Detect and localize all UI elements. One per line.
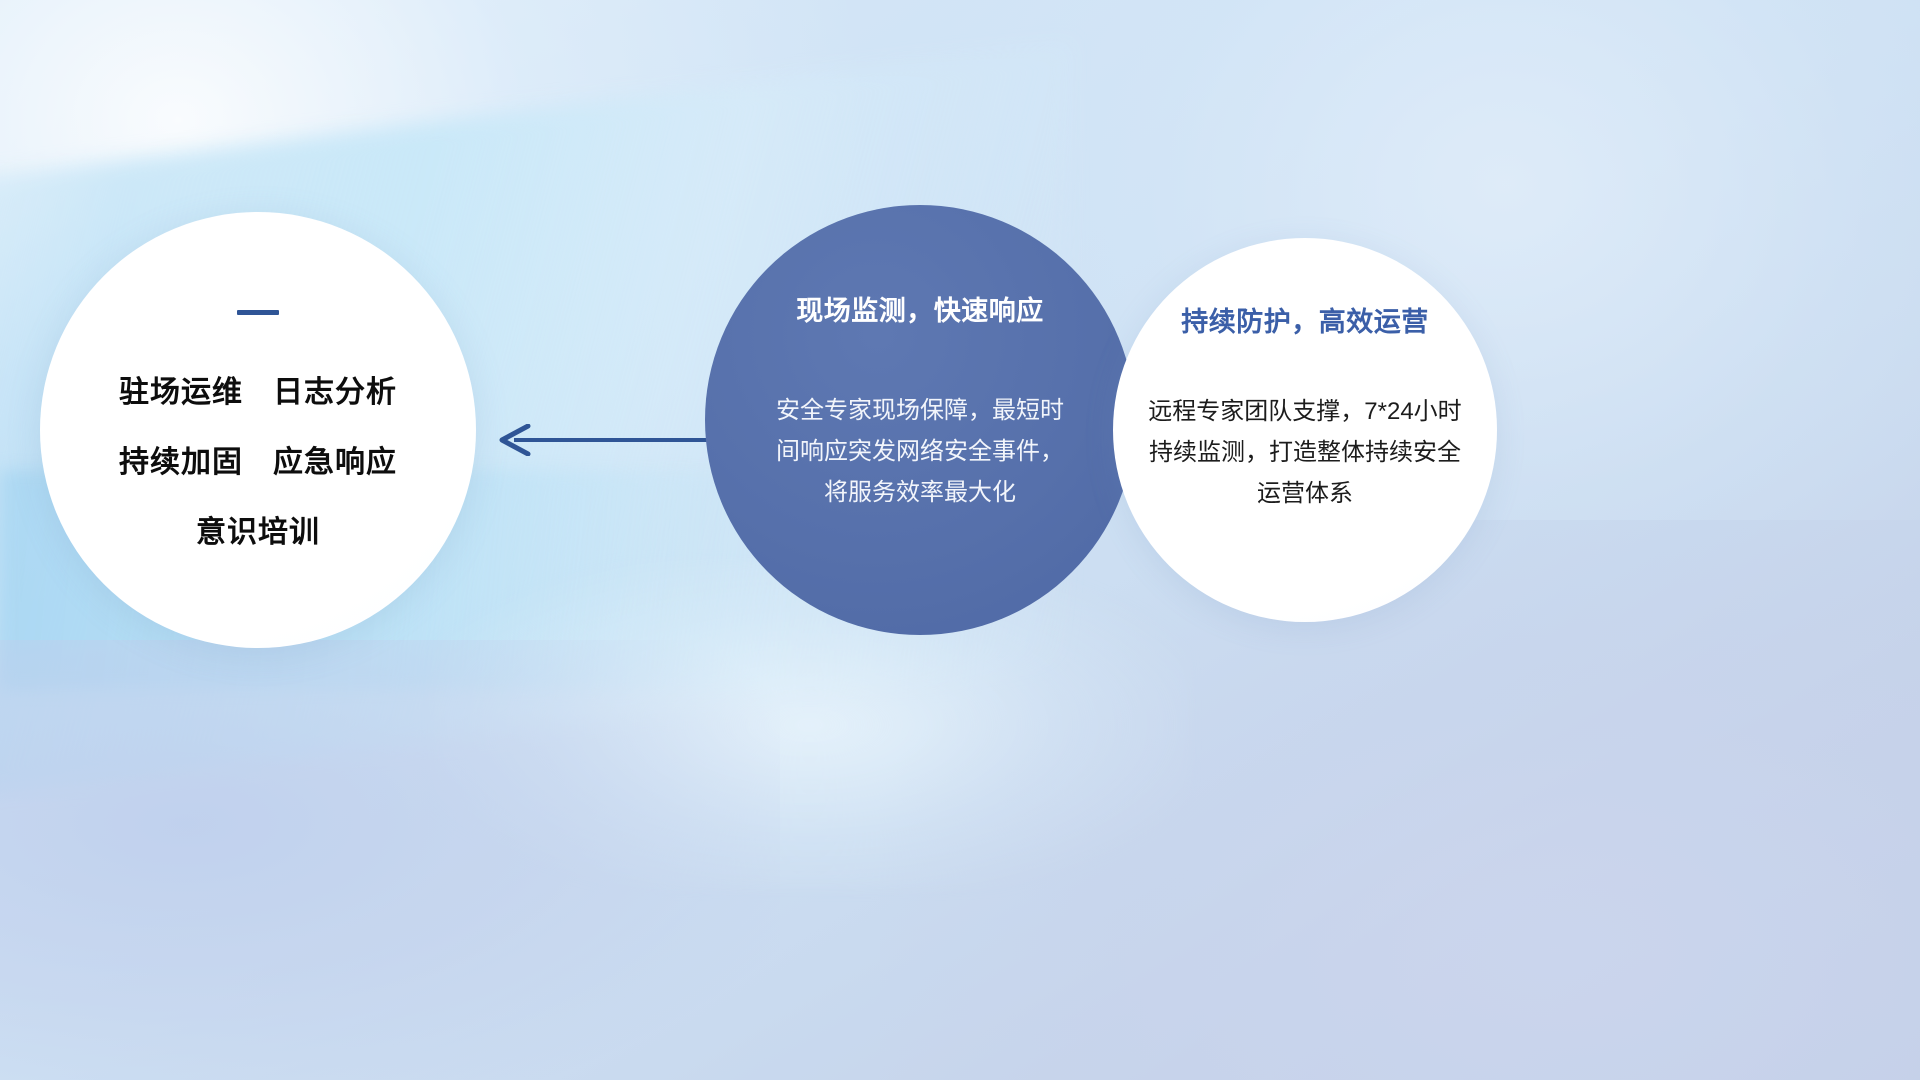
capability-row: 驻场运维 日志分析: [119, 367, 397, 411]
continuous-protection-title: 持续防护，高效运营: [1181, 300, 1429, 339]
onsite-monitoring-title: 现场监测，快速响应: [796, 289, 1044, 328]
continuous-protection-body: 远程专家团队支撑，7*24小时持续监测，打造整体持续安全运营体系: [1138, 391, 1472, 514]
left-capability-circle[interactable]: 驻场运维 日志分析 持续加固 应急响应 意识培训: [40, 212, 476, 648]
infographic-canvas: 驻场运维 日志分析 持续加固 应急响应 意识培训 现场监测，快速响应 安全专家现…: [0, 0, 1920, 1080]
arrow-left-icon: [494, 424, 716, 456]
background-glow-lower-right: [880, 520, 1920, 1080]
background-glow-lower-left: [0, 640, 780, 1080]
onsite-monitoring-circle[interactable]: 现场监测，快速响应 安全专家现场保障，最短时间响应突发网络安全事件，将服务效率最…: [705, 205, 1135, 635]
capability-row: 持续加固 应急响应: [119, 437, 397, 481]
capability-list: 驻场运维 日志分析 持续加固 应急响应 意识培训: [119, 367, 397, 551]
capability-item: 意识培训: [196, 507, 320, 551]
capability-item: 日志分析: [273, 367, 397, 411]
divider-dash: [237, 310, 279, 315]
capability-item: 持续加固: [119, 437, 243, 481]
capability-row: 意识培训: [196, 507, 320, 551]
continuous-protection-circle[interactable]: 持续防护，高效运营 远程专家团队支撑，7*24小时持续监测，打造整体持续安全运营…: [1113, 238, 1497, 622]
onsite-monitoring-body: 安全专家现场保障，最短时间响应突发网络安全事件，将服务效率最大化: [772, 390, 1068, 513]
capability-item: 驻场运维: [119, 367, 243, 411]
capability-item: 应急响应: [273, 437, 397, 481]
